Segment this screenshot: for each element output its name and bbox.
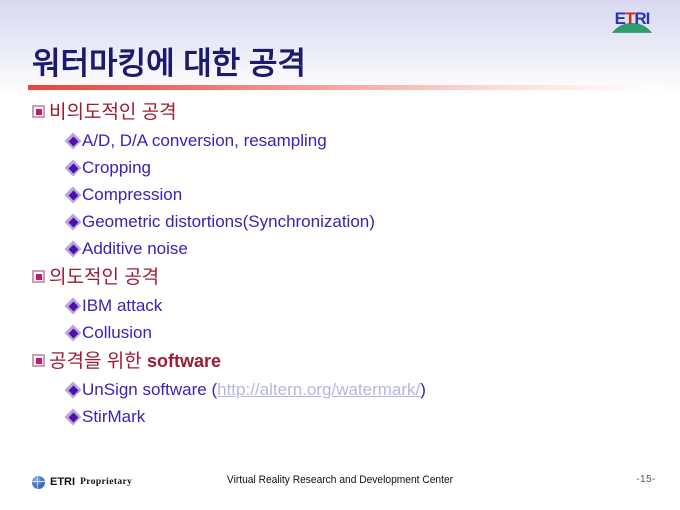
bullet-level2-label: UnSign software (http://altern.org/water… bbox=[82, 377, 426, 403]
bullet-level2: Additive noise bbox=[66, 236, 652, 263]
etri-logo-letter-e: E bbox=[615, 9, 625, 28]
bullet-level1: 의도적인 공격 bbox=[32, 263, 652, 293]
square-bullet-icon bbox=[32, 354, 45, 367]
bullet-level2-label: Collusion bbox=[82, 320, 152, 346]
unsign-label-pre: UnSign software ( bbox=[82, 380, 217, 399]
square-bullet-icon bbox=[32, 105, 45, 118]
diamond-bullet-icon bbox=[66, 161, 80, 175]
bullet-level1-label: 공격을 위한 software bbox=[49, 347, 221, 376]
title-divider bbox=[28, 85, 660, 90]
bullet-level2-label: IBM attack bbox=[82, 293, 162, 319]
bullet-level1-label: 의도적인 공격 bbox=[49, 263, 159, 292]
diamond-bullet-icon bbox=[66, 242, 80, 256]
bullet-level1-label: 비의도적인 공격 bbox=[49, 98, 177, 127]
etri-logo-letters: ETRI bbox=[606, 10, 658, 28]
diamond-bullet-icon bbox=[66, 383, 80, 397]
watermark-url-link[interactable]: http://altern.org/watermark/ bbox=[217, 380, 420, 399]
slide-content: 비의도적인 공격 A/D, D/A conversion, resampling… bbox=[28, 98, 652, 431]
etri-logo-letter-t: T bbox=[625, 9, 634, 28]
bullet-level2-label: Cropping bbox=[82, 155, 151, 181]
bullet-level2: Geometric distortions(Synchronization) bbox=[66, 209, 652, 236]
diamond-bullet-icon bbox=[66, 215, 80, 229]
etri-logo-letter-r: R bbox=[634, 9, 645, 28]
etri-logo-letter-i: I bbox=[646, 9, 650, 28]
bullet-level2: Collusion bbox=[66, 320, 652, 347]
bullet-level2: Compression bbox=[66, 182, 652, 209]
bullet-level1: 공격을 위한 software bbox=[32, 347, 652, 377]
etri-logo-icon: ETRI bbox=[606, 10, 658, 38]
diamond-bullet-icon bbox=[66, 410, 80, 424]
bullet-level1: 비의도적인 공격 bbox=[32, 98, 652, 128]
bullet-level2: IBM attack bbox=[66, 293, 652, 320]
unsign-label-post: ) bbox=[420, 380, 426, 399]
bullet-level2-label: A/D, D/A conversion, resampling bbox=[82, 128, 327, 154]
bullet-level2-label: Additive noise bbox=[82, 236, 188, 262]
diamond-bullet-icon bbox=[66, 299, 80, 313]
bullet-level2: UnSign software (http://altern.org/water… bbox=[66, 377, 652, 404]
bullet-level2: A/D, D/A conversion, resampling bbox=[66, 128, 652, 155]
slide-canvas: ETRI 워터마킹에 대한 공격 비의도적인 공격 A/D, D/A conve… bbox=[0, 0, 680, 510]
bullet-level2-label: StirMark bbox=[82, 404, 145, 430]
bullet-level2-label: Geometric distortions(Synchronization) bbox=[82, 209, 375, 235]
bullet-level2: StirMark bbox=[66, 404, 652, 431]
diamond-bullet-icon bbox=[66, 134, 80, 148]
bullet-level2-label: Compression bbox=[82, 182, 182, 208]
diamond-bullet-icon bbox=[66, 188, 80, 202]
square-bullet-icon bbox=[32, 270, 45, 283]
bullet-level2: Cropping bbox=[66, 155, 652, 182]
bullet-level1-latin: software bbox=[147, 351, 221, 371]
slide-title: 워터마킹에 대한 공격 bbox=[32, 38, 306, 83]
diamond-bullet-icon bbox=[66, 326, 80, 340]
footer-center-label: Virtual Reality Research and Development… bbox=[24, 474, 656, 486]
bullet-level1-korean: 공격을 위한 bbox=[49, 351, 147, 372]
page-number: -15- bbox=[636, 474, 656, 485]
footer-divider bbox=[30, 462, 660, 467]
